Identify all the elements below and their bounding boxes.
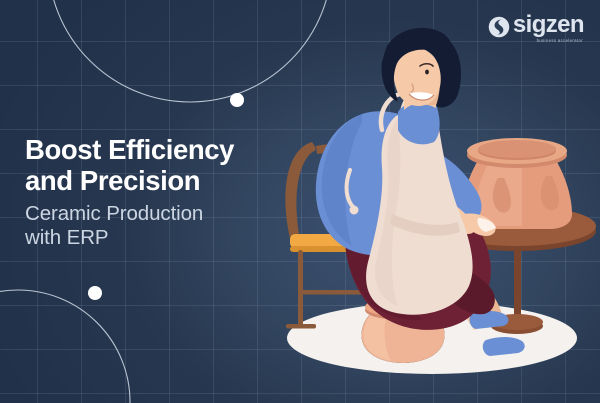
brand-tagline: business accelerator bbox=[537, 38, 583, 43]
subtitle-line-1: Ceramic Production bbox=[25, 202, 203, 225]
potter-at-wheel-illustration bbox=[246, 18, 600, 403]
sigzen-swirl-icon bbox=[488, 15, 510, 39]
bottom-decor-dot bbox=[88, 286, 102, 300]
promo-banner: Boost Efficiency and Precision Ceramic P… bbox=[0, 0, 600, 403]
logo-wordmark: sigzen business accelerator bbox=[513, 14, 584, 43]
brand-logo[interactable]: sigzen business accelerator bbox=[488, 14, 584, 43]
title-line-1: Boost Efficiency bbox=[25, 134, 234, 165]
top-decor-dot bbox=[230, 93, 244, 107]
brand-name: sigzen bbox=[513, 14, 584, 37]
page-title: Boost Efficiency and Precision bbox=[25, 134, 295, 196]
subtitle-line-2: with ERP bbox=[25, 226, 109, 249]
headline-block: Boost Efficiency and Precision Ceramic P… bbox=[25, 134, 295, 250]
page-subtitle: Ceramic Production with ERP bbox=[25, 202, 295, 250]
bottom-decor-circle bbox=[0, 290, 130, 403]
title-line-2: and Precision bbox=[25, 165, 200, 196]
potter-head bbox=[382, 28, 461, 108]
